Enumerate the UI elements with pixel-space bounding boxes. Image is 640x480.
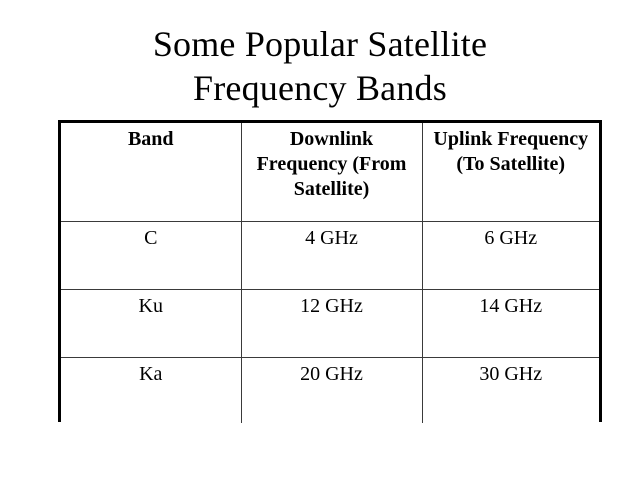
cell-uplink: 14 GHz <box>422 289 599 357</box>
slide-canvas: Some Popular Satellite Frequency Bands B… <box>0 0 640 480</box>
cell-downlink: 4 GHz <box>241 221 422 289</box>
page-title-line-2: Frequency Bands <box>0 66 640 110</box>
column-header-uplink-frequency-label: Uplink Frequency (To Satellite) <box>429 127 594 177</box>
frequency-bands-table-container: Band Downlink Frequency (From Satellite)… <box>58 120 602 422</box>
table-header: Band Downlink Frequency (From Satellite)… <box>61 123 599 221</box>
cell-band-value: C <box>67 226 235 251</box>
cell-uplink-value: 30 GHz <box>429 362 594 387</box>
cell-uplink-value: 6 GHz <box>429 226 594 251</box>
table-row: Ku 12 GHz 14 GHz <box>61 289 599 357</box>
cell-downlink-value: 20 GHz <box>248 362 416 387</box>
cell-band: Ku <box>61 289 241 357</box>
column-header-band: Band <box>61 123 241 221</box>
table-row: C 4 GHz 6 GHz <box>61 221 599 289</box>
cell-downlink: 20 GHz <box>241 357 422 423</box>
table-body: C 4 GHz 6 GHz Ku 12 GHz <box>61 221 599 423</box>
cell-band-value: Ku <box>67 294 235 319</box>
cell-downlink: 12 GHz <box>241 289 422 357</box>
page-title: Some Popular Satellite Frequency Bands <box>0 22 640 110</box>
column-header-downlink-frequency-label: Downlink Frequency (From Satellite) <box>248 127 416 202</box>
column-header-band-label: Band <box>67 127 235 152</box>
cell-uplink-value: 14 GHz <box>429 294 594 319</box>
table-header-row: Band Downlink Frequency (From Satellite)… <box>61 123 599 221</box>
cell-band: C <box>61 221 241 289</box>
cell-band-value: Ka <box>67 362 235 387</box>
column-header-downlink-frequency: Downlink Frequency (From Satellite) <box>241 123 422 221</box>
page-title-line-1: Some Popular Satellite <box>0 22 640 66</box>
cell-downlink-value: 12 GHz <box>248 294 416 319</box>
cell-uplink: 30 GHz <box>422 357 599 423</box>
cell-band: Ka <box>61 357 241 423</box>
cell-downlink-value: 4 GHz <box>248 226 416 251</box>
frequency-bands-table: Band Downlink Frequency (From Satellite)… <box>61 123 599 423</box>
cell-uplink: 6 GHz <box>422 221 599 289</box>
table-row: Ka 20 GHz 30 GHz <box>61 357 599 423</box>
column-header-uplink-frequency: Uplink Frequency (To Satellite) <box>422 123 599 221</box>
